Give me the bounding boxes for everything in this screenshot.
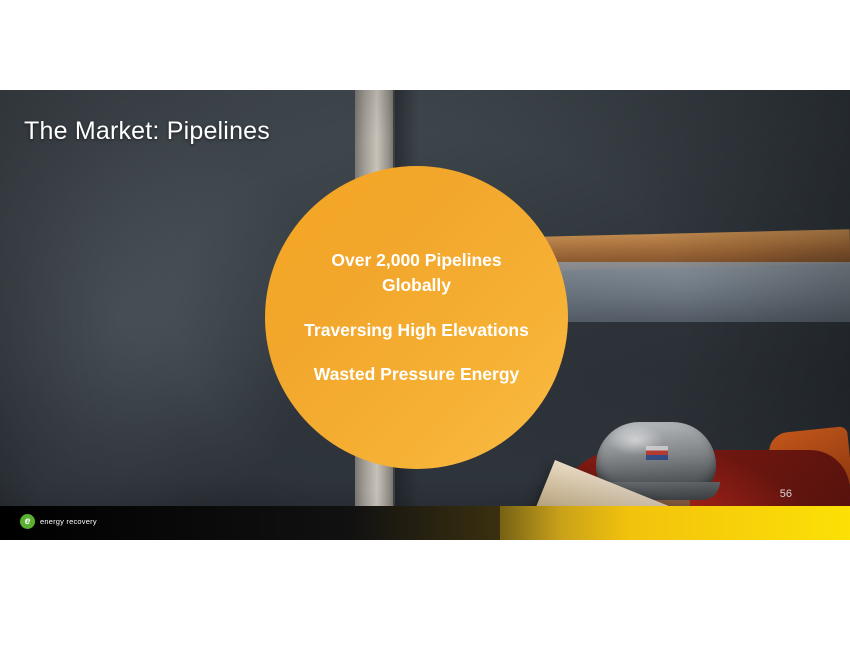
callout-line-3: Wasted Pressure Energy bbox=[302, 362, 532, 387]
slide-canvas: The Market: Pipelines Over 2,000 Pipelin… bbox=[0, 90, 850, 540]
callout-circle: Over 2,000 Pipelines Globally Traversing… bbox=[265, 166, 568, 469]
energy-recovery-mark-icon: e bbox=[20, 514, 35, 529]
page-title: The Market: Pipelines bbox=[24, 117, 270, 146]
callout-line-1: Over 2,000 Pipelines Globally bbox=[302, 248, 532, 298]
company-logo: e energy recovery bbox=[20, 514, 97, 529]
company-logo-text: energy recovery bbox=[40, 517, 97, 526]
page-number: 56 bbox=[780, 488, 792, 500]
concrete-slab bbox=[545, 262, 850, 322]
flag-sticker-icon bbox=[646, 446, 668, 460]
callout-line-2: Traversing High Elevations bbox=[302, 318, 532, 343]
